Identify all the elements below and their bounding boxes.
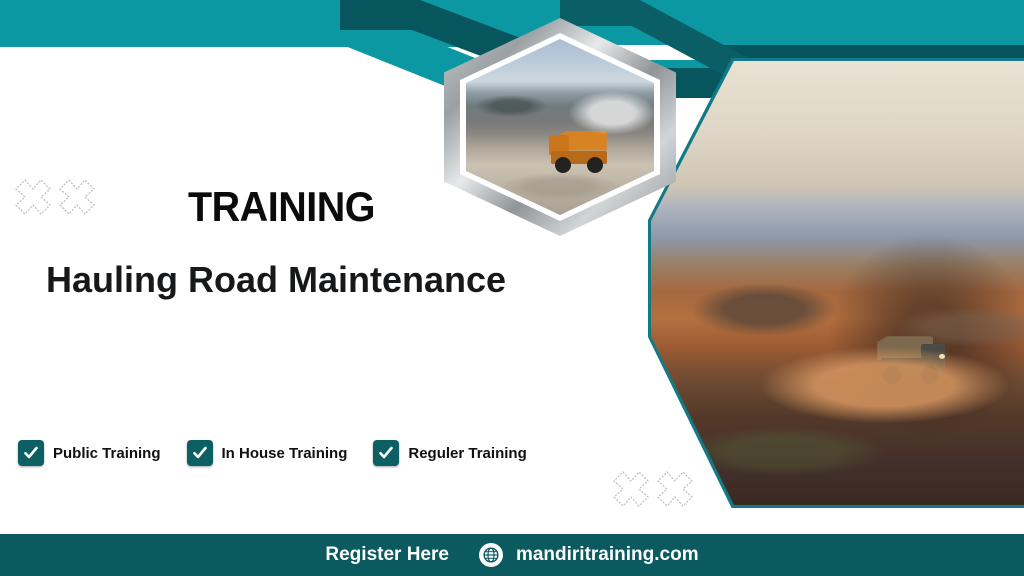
website-group[interactable]: mandiritraining.com: [479, 543, 699, 567]
x-cross-icon: [14, 178, 52, 216]
hexagon-photo-large: [648, 58, 1024, 508]
footer-bar: Register Here mandiritraining.com: [0, 534, 1024, 576]
option-reguler-training[interactable]: Reguler Training: [373, 440, 526, 466]
register-here-label[interactable]: Register Here: [325, 544, 449, 566]
checkbox-checked-icon[interactable]: [18, 440, 44, 466]
x-cross-icon: [58, 178, 96, 216]
hexagon-photo-small: [444, 18, 676, 236]
option-in-house-training[interactable]: In House Training: [187, 440, 348, 466]
training-poster: TRAINING Hauling Road Maintenance Public…: [0, 0, 1024, 576]
x-cross-icon: [612, 470, 650, 508]
haul-truck-icon: [877, 336, 947, 388]
eyebrow-title: TRAINING: [188, 186, 375, 228]
option-label: In House Training: [222, 445, 348, 462]
training-options-row: Public Training In House Training Regule…: [18, 440, 527, 466]
option-label: Reguler Training: [408, 445, 526, 462]
hexagon-large-image: [651, 61, 1024, 505]
checkbox-checked-icon[interactable]: [373, 440, 399, 466]
globe-icon: [479, 543, 503, 567]
haul-truck-icon: [549, 131, 611, 177]
option-label: Public Training: [53, 445, 161, 462]
option-public-training[interactable]: Public Training: [18, 440, 161, 466]
checkbox-checked-icon[interactable]: [187, 440, 213, 466]
page-title: Hauling Road Maintenance: [46, 258, 506, 301]
x-cross-icon: [656, 470, 694, 508]
decor-x-pair-mid: [612, 470, 694, 508]
decor-x-pair-left: [14, 178, 96, 216]
website-label[interactable]: mandiritraining.com: [516, 544, 699, 566]
